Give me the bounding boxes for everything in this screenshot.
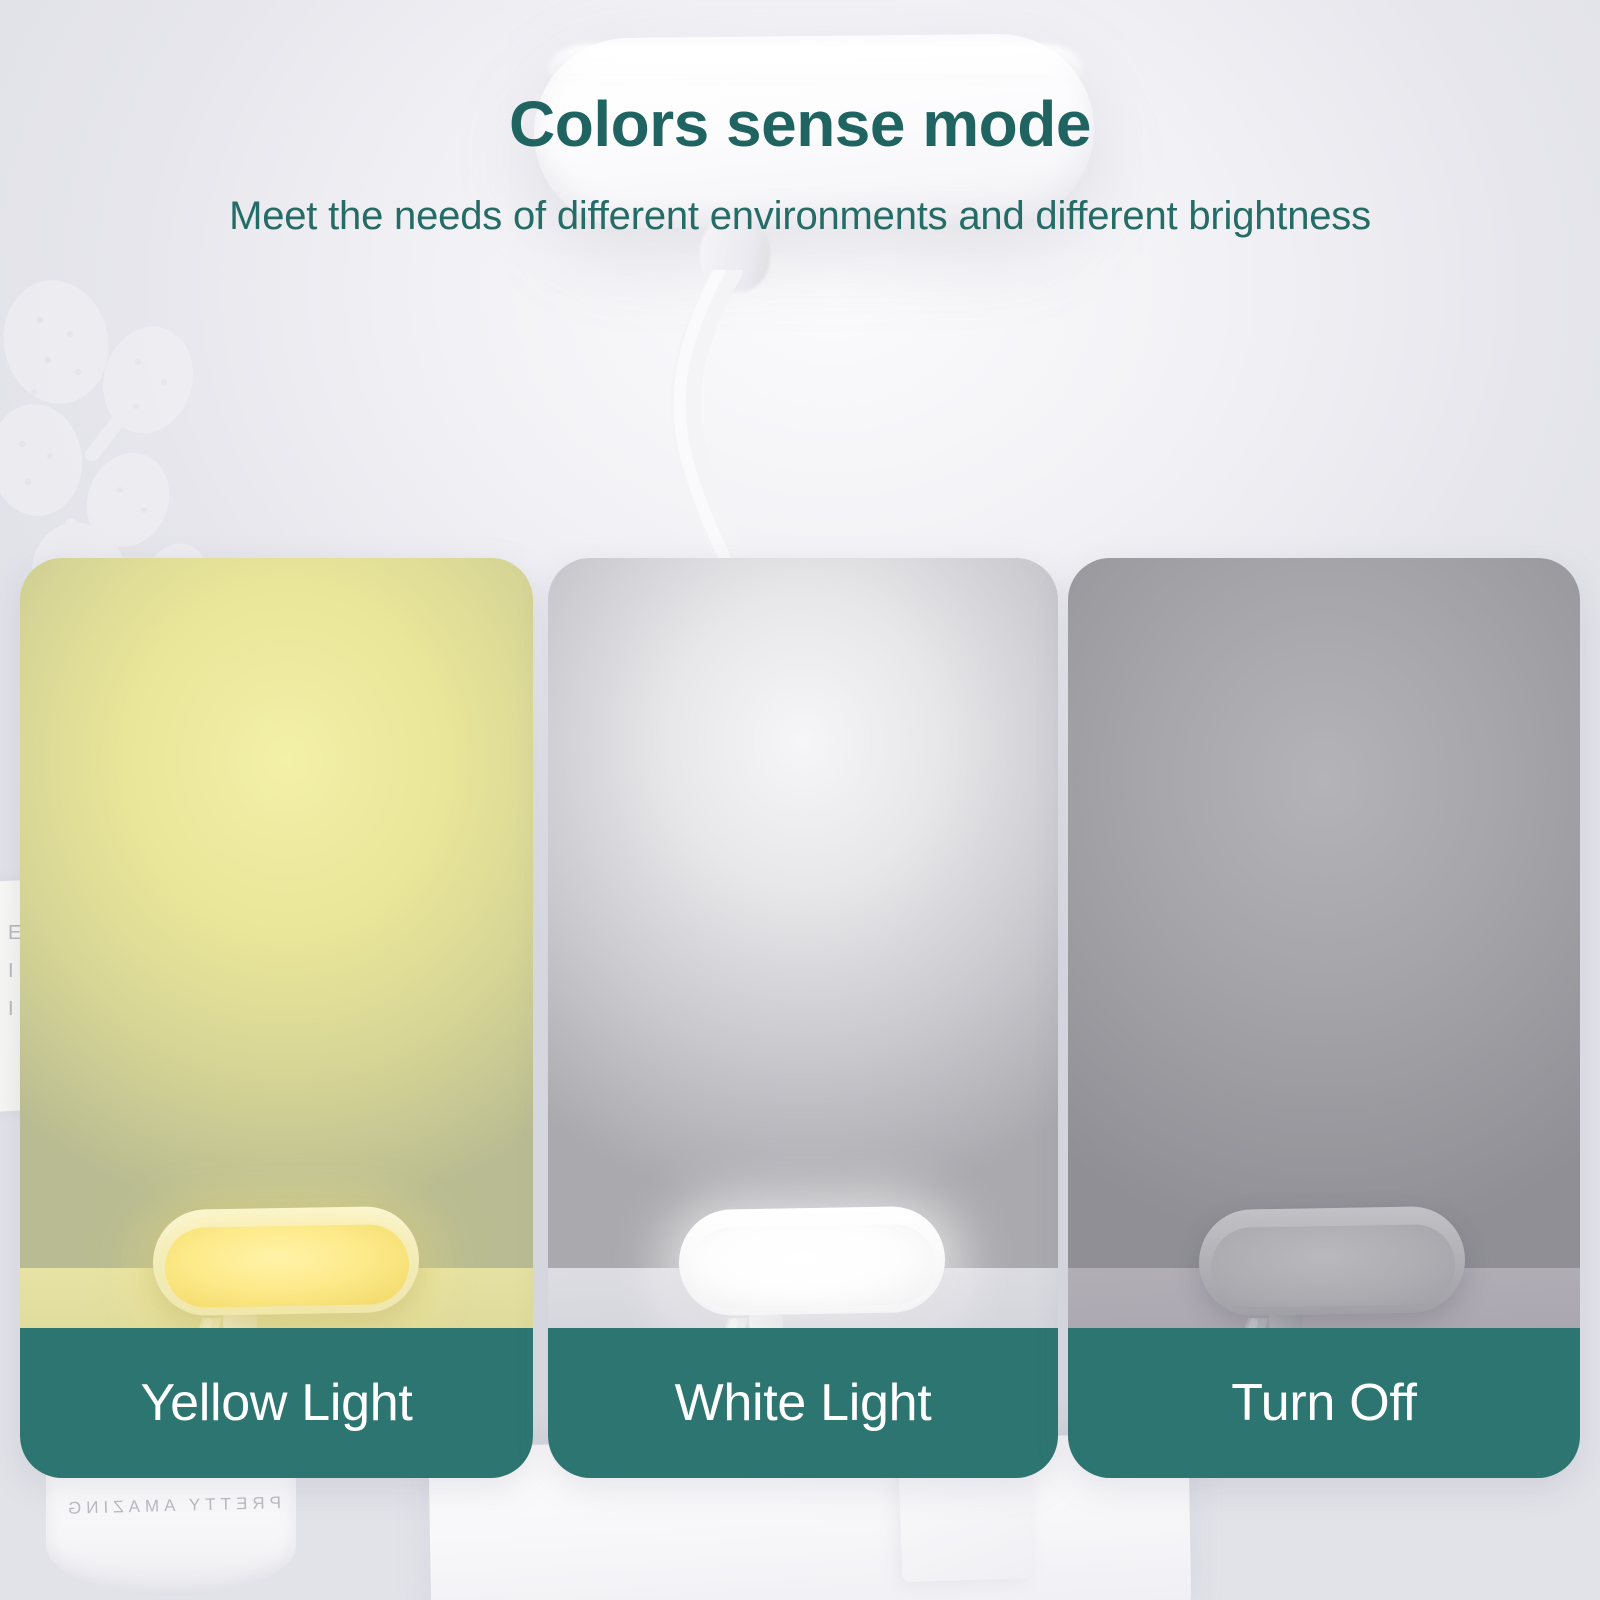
product-feature-banner: EII PRETTY AMAZING Colors sense mode Mee… [0,0,1600,1600]
panel-caption-bar: Turn Off [1068,1328,1580,1478]
panel-caption-label: White Light [675,1377,932,1429]
mode-panel-white-light[interactable]: BECAUSE WYOU STOPLOOK AROUTHIS LIFEPRETT… [548,558,1058,1478]
header-block: Colors sense mode Meet the needs of diff… [0,0,1600,236]
panel-caption-label: Turn Off [1231,1377,1416,1429]
panel-caption-label: Yellow Light [140,1377,412,1429]
lamp-head-off[interactable] [1198,1206,1466,1317]
page-subtitle: Meet the needs of different environments… [0,156,1600,236]
lamp-head-yellow[interactable] [152,1206,420,1317]
mode-panel-group: BECAUSE WYOU STOPLOOK AROUTHIS LIFEPRETT… [0,0,1600,1600]
panel-caption-bar: White Light [548,1328,1058,1478]
page-title: Colors sense mode [0,0,1600,156]
mode-panel-turn-off[interactable]: BECAUSE WYOU STOPLOOK AROUTHIS LIFEPRETT… [1068,558,1580,1478]
lamp-diffuser-glow [690,1224,935,1308]
lamp-head-white[interactable] [678,1206,946,1317]
panel-caption-bar: Yellow Light [20,1328,533,1478]
mode-panel-yellow-light[interactable]: BECAUSE WYOU STOPLOOK AROUTHIS LIFEPRETT… [20,558,533,1478]
lamp-diffuser-glow [1210,1224,1455,1308]
lamp-diffuser-glow [164,1224,409,1308]
